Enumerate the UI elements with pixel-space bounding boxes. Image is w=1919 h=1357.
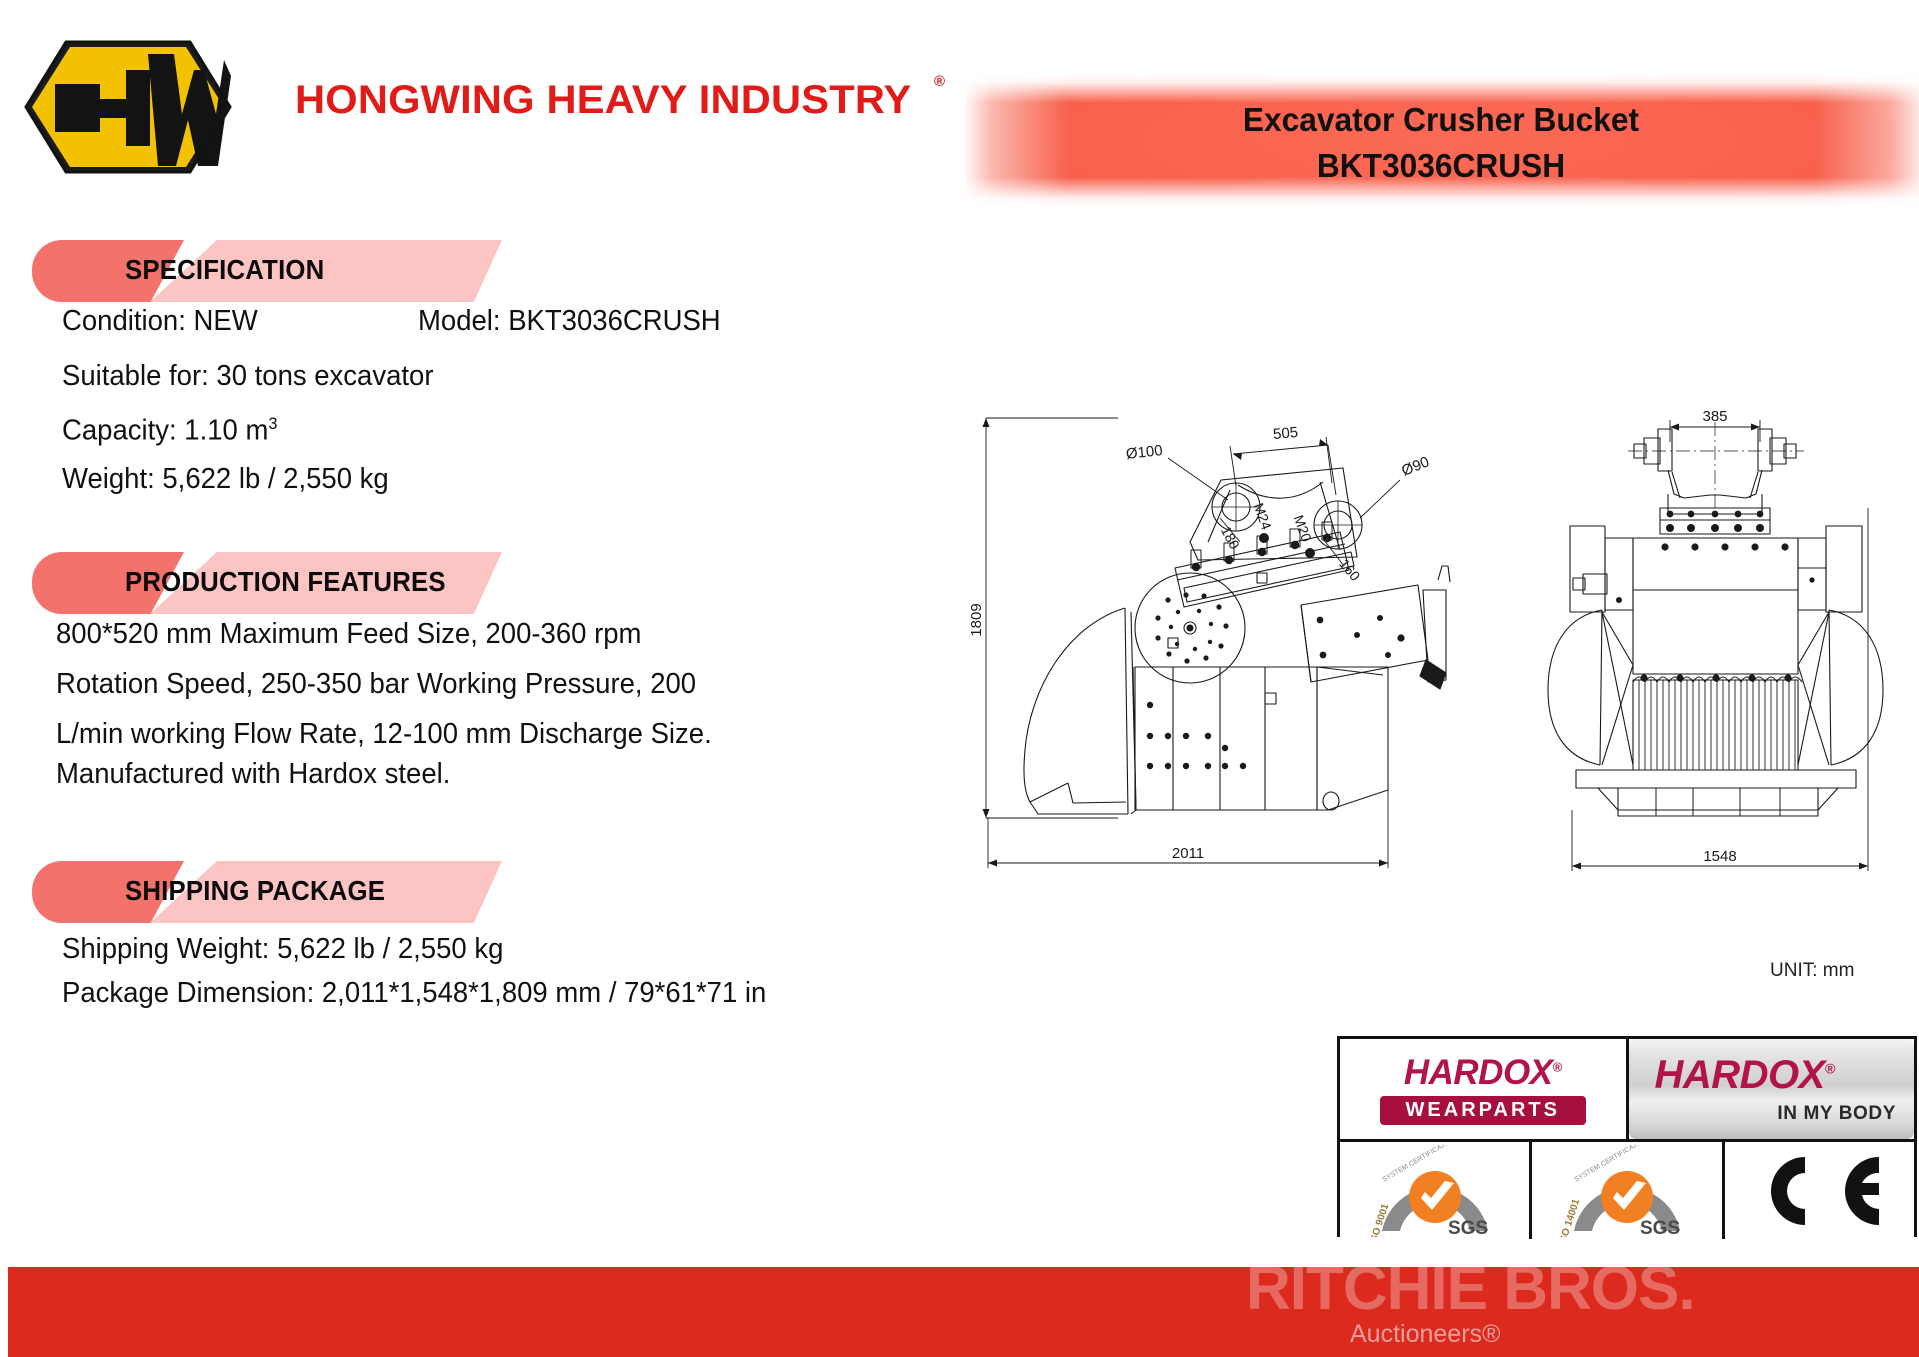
shipping-weight: Shipping Weight: 5,622 lb / 2,550 kg bbox=[62, 933, 503, 966]
spec-weight: Weight: 5,622 lb / 2,550 kg bbox=[62, 463, 389, 496]
spec-capacity-exponent: 3 bbox=[268, 414, 277, 433]
hardox-in-my-body-logo: HARDOX® IN MY BODY bbox=[1629, 1039, 1915, 1139]
ce-mark-logo bbox=[1725, 1142, 1914, 1239]
footer-bar bbox=[8, 1267, 1919, 1357]
sgs-issuer: SGS bbox=[1448, 1218, 1488, 1237]
feature-line-4: Manufactured with Hardox steel. bbox=[56, 758, 450, 791]
sgs-iso-14001-logo: SYSTEM CERTIFICATION ISO 14001 SGS bbox=[1532, 1142, 1721, 1239]
product-title: Excavator Crusher Bucket bbox=[982, 101, 1900, 139]
hardox-wearparts-reg: ® bbox=[1553, 1059, 1562, 1074]
dim-side-height: 1809 bbox=[968, 603, 985, 636]
hardox-inmybody-brand: HARDOX bbox=[1655, 1053, 1825, 1097]
hardox-wearparts-brand: HARDOX bbox=[1404, 1053, 1553, 1092]
registered-trademark-mark: ® bbox=[934, 73, 945, 90]
dim-pin-spacing-left: 180 bbox=[1218, 524, 1243, 552]
dim-side-width: 2011 bbox=[1172, 845, 1204, 862]
dim-bolt-right: M20 bbox=[1291, 513, 1315, 544]
spec-capacity-value: Capacity: 1.10 m bbox=[62, 415, 268, 447]
sgs-iso-9001-logo: SYSTEM CERTIFICATION ISO 9001 SGS bbox=[1340, 1142, 1529, 1239]
shipping-package-section-header: SHIPPING PACKAGE bbox=[32, 861, 472, 923]
dim-front-width: 1548 bbox=[1703, 848, 1736, 865]
unit-label: UNIT: mm bbox=[1770, 960, 1854, 982]
package-dimension: Package Dimension: 2,011*1,548*1,809 mm … bbox=[62, 977, 766, 1010]
hardox-inmybody-sublabel: IN MY BODY bbox=[1777, 1103, 1896, 1125]
dim-pin-dia-left: Ø100 bbox=[1125, 442, 1163, 463]
product-title-banner: Excavator Crusher Bucket BKT3036CRUSH bbox=[963, 74, 1919, 206]
shipping-package-heading: SHIPPING PACKAGE bbox=[125, 875, 385, 907]
hw-hexagon-logo-icon bbox=[22, 36, 234, 178]
spec-suitable-for: Suitable for: 30 tons excavator bbox=[62, 360, 434, 393]
page-header: HONGWING HEAVY INDUSTRY ® Excavator Crus… bbox=[0, 0, 1919, 215]
feature-line-1: 800*520 mm Maximum Feed Size, 200-360 rp… bbox=[56, 618, 641, 651]
dim-pin-spacing-right: 160 bbox=[1336, 556, 1363, 584]
certification-row-2: SYSTEM CERTIFICATION ISO 9001 SGS SYSTEM… bbox=[1340, 1142, 1914, 1239]
spec-condition: Condition: NEW bbox=[62, 305, 258, 338]
spec-capacity: Capacity: 1.10 m3 bbox=[62, 414, 278, 448]
specification-section-header: SPECIFICATION bbox=[32, 240, 472, 302]
sgs-standard-14001: ISO 14001 bbox=[1557, 1197, 1582, 1237]
hardox-wearparts-sublabel: WEARPARTS bbox=[1380, 1096, 1586, 1125]
feature-line-2: Rotation Speed, 250-350 bar Working Pres… bbox=[56, 668, 696, 701]
dim-pin-dia-right: Ø90 bbox=[1399, 453, 1432, 479]
sgs-issuer: SGS bbox=[1640, 1218, 1680, 1237]
brand-name: HONGWING HEAVY INDUSTRY bbox=[295, 78, 912, 123]
hardox-wearparts-logo: HARDOX® WEARPARTS bbox=[1340, 1039, 1626, 1139]
feature-line-3: L/min working Flow Rate, 12-100 mm Disch… bbox=[56, 718, 712, 751]
certification-logo-grid: HARDOX® WEARPARTS HARDOX® IN MY BODY SYS… bbox=[1337, 1036, 1917, 1237]
product-model-code: BKT3036CRUSH bbox=[982, 147, 1900, 185]
production-features-heading: PRODUCTION FEATURES bbox=[125, 566, 446, 598]
hardox-inmybody-reg: ® bbox=[1825, 1061, 1835, 1077]
specification-heading: SPECIFICATION bbox=[125, 254, 324, 286]
spec-model: Model: BKT3036CRUSH bbox=[418, 305, 721, 338]
production-features-section-header: PRODUCTION FEATURES bbox=[32, 552, 472, 614]
dim-bolt-left: M24 bbox=[1251, 501, 1275, 532]
technical-drawing: 1809 2011 bbox=[968, 390, 1919, 910]
dim-top-span: 505 bbox=[1272, 424, 1298, 443]
